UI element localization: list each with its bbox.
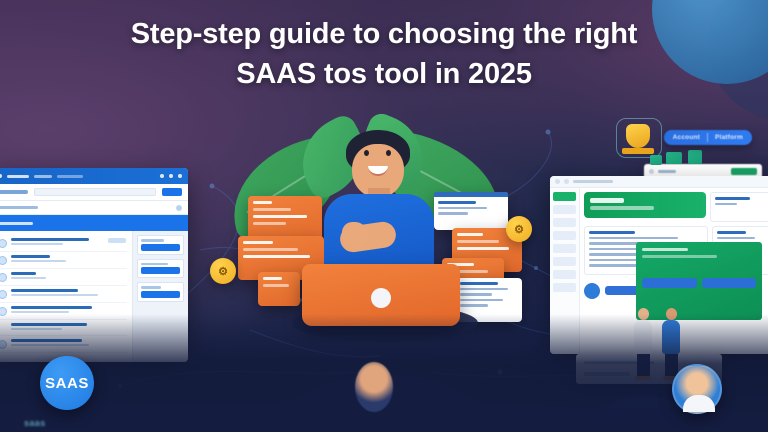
headline-line-2: SAAS tos tool in 2025 — [32, 54, 736, 94]
gear-icon[interactable]: ⚙ — [506, 216, 532, 242]
promo-banner[interactable] — [584, 192, 706, 218]
left-mock-logo-icon — [0, 174, 2, 178]
share-nodes-icon[interactable]: ⚙ — [210, 258, 236, 284]
nav-item-settings[interactable] — [553, 283, 576, 292]
nav-item-team[interactable] — [553, 257, 576, 266]
left-mock-bell-icon[interactable] — [160, 174, 164, 178]
fab-button[interactable] — [584, 283, 600, 299]
side-card-button[interactable] — [141, 267, 180, 274]
illustration-person — [298, 128, 462, 324]
decorative-cube — [666, 152, 682, 164]
left-mock-search-row[interactable] — [0, 184, 188, 201]
right-mock-title — [573, 180, 613, 183]
search-input[interactable] — [34, 188, 156, 196]
list-item[interactable] — [0, 286, 127, 303]
side-card[interactable] — [137, 235, 184, 255]
window-dot-icon — [564, 179, 569, 184]
nav-item-home[interactable] — [553, 192, 576, 201]
section-title — [0, 222, 33, 225]
left-mock-section-header — [0, 215, 188, 231]
avatar — [0, 273, 7, 282]
avatar-center[interactable] — [355, 362, 393, 412]
row-meta — [108, 238, 126, 243]
hero-banner: Account Platform — [0, 0, 768, 432]
left-mock-filter-row[interactable] — [0, 201, 188, 215]
view-report-button[interactable] — [642, 278, 697, 288]
headline-line-1: Step-step guide to choosing the right — [131, 18, 638, 50]
decorative-cube — [650, 155, 662, 165]
avatar — [0, 256, 7, 265]
side-card[interactable] — [137, 259, 184, 279]
pill-left-label: Account — [673, 134, 700, 141]
avatar — [0, 290, 7, 299]
side-card[interactable] — [137, 282, 184, 302]
list-item[interactable] — [0, 269, 127, 286]
status-pill[interactable]: Account Platform — [664, 130, 752, 145]
left-mock-nav-item[interactable] — [57, 175, 83, 178]
nav-item-inbox[interactable] — [553, 205, 576, 214]
left-mock-nav-item[interactable] — [34, 175, 52, 178]
list-item[interactable] — [0, 252, 127, 269]
list-item[interactable] — [0, 235, 127, 252]
window-dot-icon — [555, 179, 560, 184]
nav-item-billing[interactable] — [553, 244, 576, 253]
stat-card[interactable] — [710, 192, 768, 222]
left-mock-avatar[interactable] — [178, 174, 182, 178]
nav-item-files[interactable] — [553, 270, 576, 279]
pill-right-label: Platform — [715, 134, 743, 141]
left-mock-topbar — [0, 168, 188, 184]
side-card-button[interactable] — [141, 244, 180, 251]
left-mock-nav-item[interactable] — [7, 175, 29, 178]
avatar — [0, 239, 7, 248]
manage-billing-button[interactable] — [702, 278, 757, 288]
panel-action-button[interactable] — [731, 168, 757, 175]
search-icon[interactable] — [176, 205, 182, 211]
primary-button[interactable] — [162, 188, 182, 196]
saas-badge[interactable]: SAAS — [40, 356, 94, 410]
floating-card-small[interactable] — [258, 272, 300, 306]
page-title: Step-step guide to choosing the right SA… — [0, 14, 768, 94]
decorative-cube — [688, 150, 702, 164]
corner-watermark: saas — [24, 418, 46, 428]
nav-item-tasks[interactable] — [553, 218, 576, 227]
side-card-button[interactable] — [141, 291, 180, 298]
left-mock-title — [0, 190, 28, 194]
filter-label — [0, 206, 38, 209]
window-dot-icon — [649, 169, 654, 174]
panel-label — [658, 170, 676, 173]
nav-item-reports[interactable] — [553, 231, 576, 240]
left-mock-help-icon[interactable] — [169, 174, 173, 178]
avatar-right[interactable] — [672, 364, 722, 414]
right-mock-topbar — [550, 176, 768, 188]
